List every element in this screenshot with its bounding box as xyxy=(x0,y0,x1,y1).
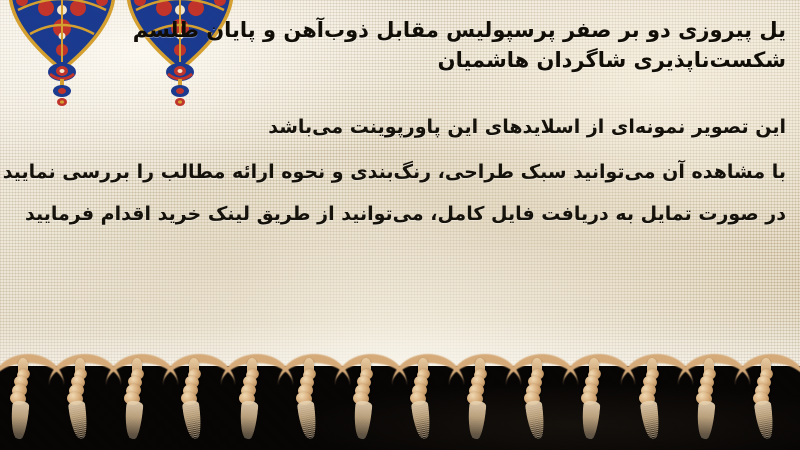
presentation-slide: یل پیروزی دو بر صفر پرسپولیس مقابل ذوب‌آ… xyxy=(0,0,800,450)
fringe-tassel xyxy=(55,352,115,450)
fringe-tuft xyxy=(581,400,601,439)
fringe-tuft xyxy=(68,400,90,440)
fringe-tassel xyxy=(627,352,687,450)
carpet-fringe-tassels xyxy=(0,352,800,450)
fringe-tuft xyxy=(754,400,776,440)
fringe-tassel xyxy=(398,352,458,450)
fringe-tassel xyxy=(227,352,287,450)
fringe-tassel xyxy=(0,352,58,450)
fringe-tassel xyxy=(569,352,629,450)
fringe-tassel xyxy=(112,352,172,450)
fringe-tuft xyxy=(525,400,547,440)
fringe-tassel xyxy=(512,352,572,450)
fringe-tuft xyxy=(352,400,372,439)
fringe-tassel xyxy=(741,352,800,450)
slide-text-layer: یل پیروزی دو بر صفر پرسپولیس مقابل ذوب‌آ… xyxy=(0,0,800,382)
fringe-tuft xyxy=(639,400,661,440)
fringe-tuft xyxy=(124,400,144,439)
slide-body-line-2: با مشاهده آن می‌توانید سبک طراحی، رنگ‌بن… xyxy=(0,160,786,185)
fringe-tuft xyxy=(238,400,258,439)
slide-title-line-1: یل پیروزی دو بر صفر پرسپولیس مقابل ذوب‌آ… xyxy=(0,17,786,44)
slide-title-line-2: شکست‌ناپذیری شاگردان هاشمیان xyxy=(0,47,786,74)
fringe-tuft xyxy=(695,400,715,439)
fringe-tassel xyxy=(341,352,401,450)
fringe-tassel xyxy=(684,352,744,450)
fringe-tassel xyxy=(455,352,515,450)
fringe-tassel xyxy=(169,352,229,450)
fringe-tassel xyxy=(284,352,344,450)
fringe-tuft xyxy=(411,400,433,440)
slide-body-line-3: در صورت تمایل به دریافت فایل کامل، می‌تو… xyxy=(0,202,786,227)
fringe-tuft xyxy=(296,400,318,440)
slide-body-line-1: این تصویر نمونه‌ای از اسلایدهای این پاور… xyxy=(0,115,786,140)
fringe-tuft xyxy=(467,400,487,439)
fringe-tuft xyxy=(182,400,204,440)
fringe-tuft xyxy=(9,400,29,439)
